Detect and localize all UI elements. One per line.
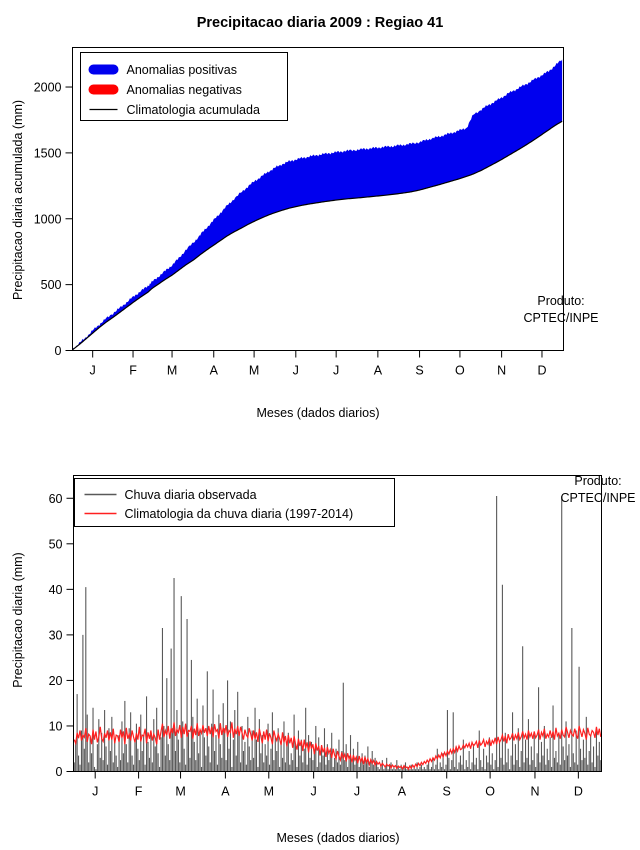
- bottom-x-tick-label: F: [135, 785, 143, 799]
- bottom-x-tick-label: M: [175, 785, 185, 799]
- top-x-tick-label: F: [129, 364, 137, 378]
- top-x-tick-label: J: [293, 364, 299, 378]
- observed-daily-bars: [74, 496, 601, 772]
- bottom-x-tick-label: N: [530, 785, 539, 799]
- bottom-x-tick-label: A: [221, 785, 230, 799]
- top-legend-label-1: Anomalias negativas: [127, 83, 242, 97]
- bottom-x-tick-label: S: [443, 785, 451, 799]
- top-produto-line1: Produto:: [537, 294, 584, 308]
- bottom-x-axis-label: Meses (dados diarios): [277, 831, 400, 845]
- top-x-tick-label: A: [374, 364, 383, 378]
- accumulated-chart-svg: Precipitacao diaria 2009 : Regiao 41 Pre…: [0, 0, 640, 430]
- bottom-y-tick-label: 0: [56, 765, 63, 779]
- bottom-y-tick-label: 20: [49, 674, 63, 688]
- top-x-tick-label: J: [90, 364, 96, 378]
- bottom-legend-label-1: Climatologia da chuva diaria (1997-2014): [125, 507, 354, 521]
- top-x-tick-label: A: [210, 364, 219, 378]
- top-x-tick-label: N: [497, 364, 506, 378]
- bottom-y-tick-label: 40: [49, 583, 63, 597]
- top-y-tick-label: 1500: [34, 146, 62, 160]
- bottom-x-tick-label: J: [311, 785, 317, 799]
- top-y-tick-label: 2000: [34, 81, 62, 95]
- accumulated-precipitation-panel: Precipitacao diaria 2009 : Regiao 41 Pre…: [0, 0, 640, 430]
- top-legend-label-2: Climatologia acumulada: [127, 103, 260, 117]
- top-legend-label-0: Anomalias positivas: [127, 63, 237, 77]
- bottom-legend: Chuva diaria observadaClimatologia da ch…: [75, 479, 395, 527]
- bottom-produto-line1: Produto:: [574, 474, 621, 488]
- top-x-axis-label: Meses (dados diarios): [257, 406, 380, 420]
- bottom-y-tick-label: 10: [49, 719, 63, 733]
- top-x-tick-label: D: [537, 364, 546, 378]
- top-y-tick-label: 500: [41, 278, 62, 292]
- daily-climatology-line: [74, 722, 601, 769]
- bottom-y-tick-label: 60: [49, 492, 63, 506]
- bottom-x-tick-label: D: [574, 785, 583, 799]
- top-x-tick-label: O: [455, 364, 465, 378]
- top-produto-line2: CPTEC/INPE: [523, 311, 598, 325]
- top-y-tick-label: 1000: [34, 212, 62, 226]
- top-x-tick-label: M: [167, 364, 177, 378]
- top-legend-swatch-1: [89, 85, 119, 95]
- bottom-x-tick-label: J: [354, 785, 360, 799]
- bottom-x-tick-label: A: [398, 785, 407, 799]
- bottom-plot-area: [74, 496, 601, 772]
- top-x-tick-label: J: [333, 364, 339, 378]
- top-y-tick-label: 0: [55, 344, 62, 358]
- bottom-x-tick-label: M: [264, 785, 274, 799]
- bottom-x-tick-label: J: [92, 785, 98, 799]
- top-x-tick-label: M: [249, 364, 259, 378]
- bottom-produto-line2: CPTEC/INPE: [560, 491, 635, 505]
- bottom-legend-label-0: Chuva diaria observada: [125, 488, 257, 502]
- page-title: Precipitacao diaria 2009 : Regiao 41: [197, 15, 444, 31]
- bottom-y-tick-label: 30: [49, 628, 63, 642]
- bottom-y-axis-label: Precipitacao diaria (mm): [11, 552, 25, 687]
- bottom-x-tick-label: O: [485, 785, 495, 799]
- daily-chart-svg: Precipitacao diaria (mm) Meses (dados di…: [0, 430, 640, 850]
- bottom-y-tick-label: 50: [49, 537, 63, 551]
- top-y-axis-label: Precipitacao diaria acumulada (mm): [11, 100, 25, 300]
- top-x-tick-label: S: [415, 364, 423, 378]
- top-legend-swatch-0: [89, 65, 119, 75]
- chart-page: Precipitacao diaria 2009 : Regiao 41 Pre…: [0, 0, 640, 850]
- top-legend: Anomalias positivasAnomalias negativasCl…: [81, 53, 288, 121]
- daily-precipitation-panel: Precipitacao diaria (mm) Meses (dados di…: [0, 430, 640, 850]
